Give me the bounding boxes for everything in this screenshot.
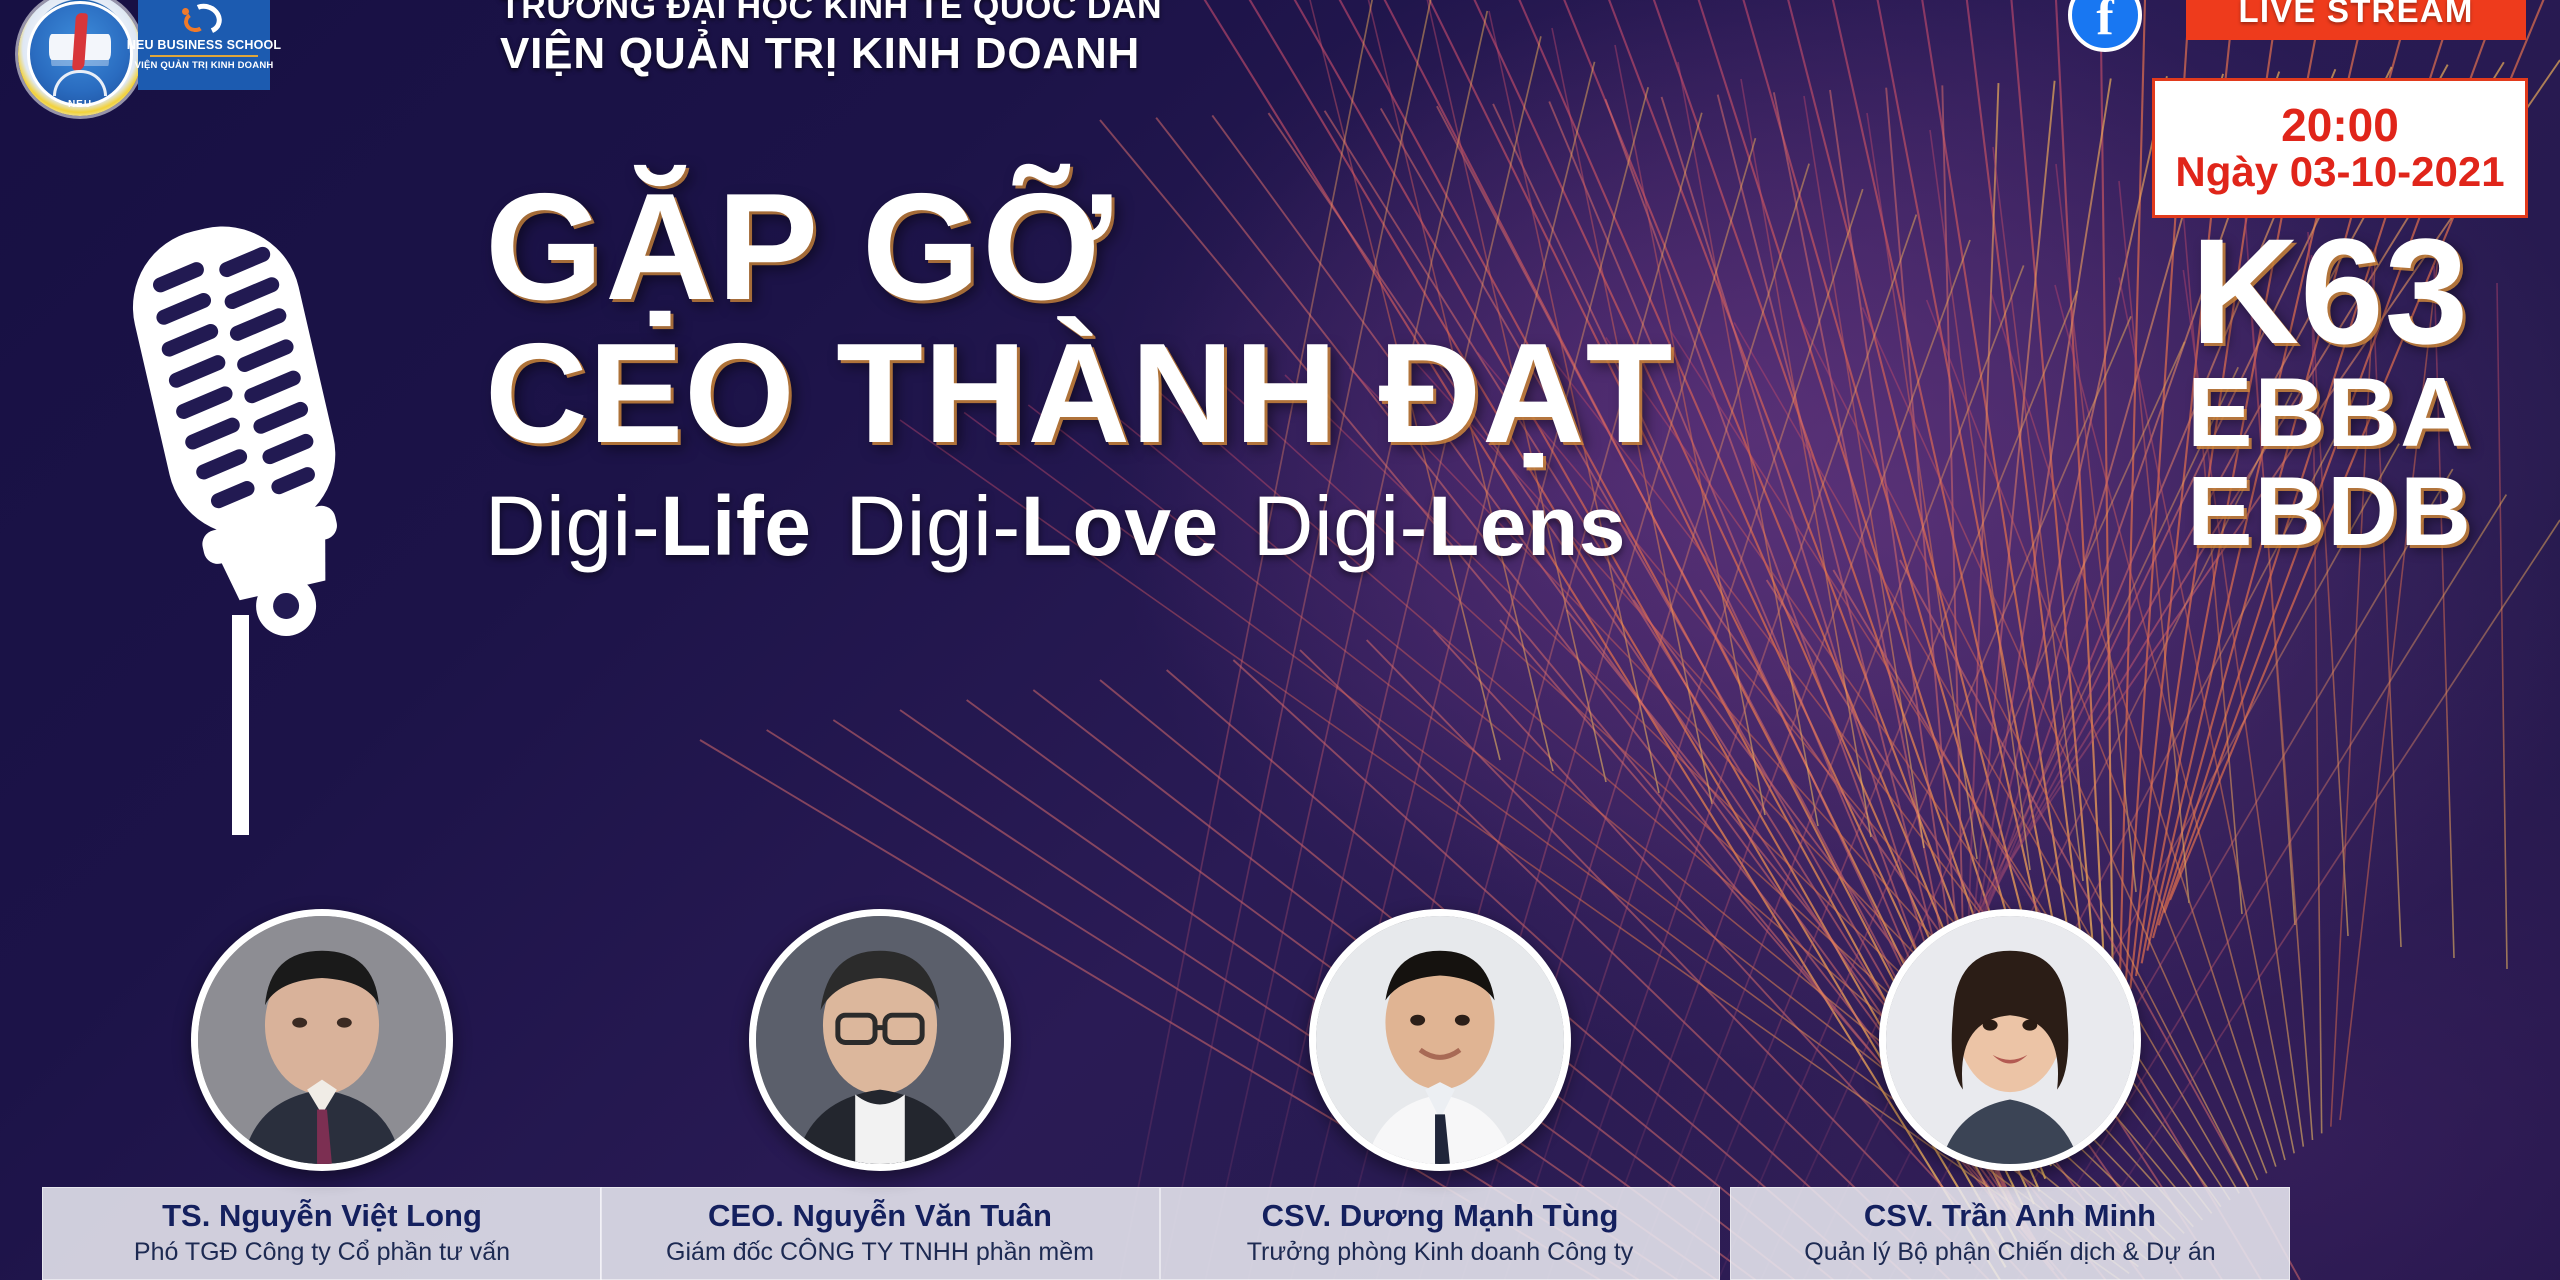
subtitle-bold-1: Life	[660, 479, 811, 573]
avatar	[191, 909, 453, 1171]
neu-business-school-logo: NEU BUSINESS SCHOOL VIỆN QUẢN TRỊ KINH D…	[138, 0, 270, 90]
speaker-card: CSV. Dương Mạnh Tùng Trưởng phòng Kinh d…	[1160, 909, 1720, 1280]
avatar	[1309, 909, 1571, 1171]
cohort-block: K63 EBBA EBDB	[2120, 220, 2540, 562]
speaker-role: Quản lý Bộ phận Chiến dịch & Dự án	[1739, 1237, 2281, 1267]
title-line-1: GẶP GỠ	[485, 170, 1673, 325]
university-heading: TRƯỜNG ĐẠI HỌC KINH TẾ QUỐC DÂN VIỆN QUẢ…	[500, 0, 1162, 79]
speaker-card: CEO. Nguyễn Văn Tuân Giám đốc CÔNG TY TN…	[600, 909, 1160, 1280]
university-name: TRƯỜNG ĐẠI HỌC KINH TẾ QUỐC DÂN	[500, 0, 1162, 27]
speaker-name-bar: CSV. Trần Anh Minh Quản lý Bộ phận Chiến…	[1730, 1187, 2290, 1280]
event-date: Ngày 03-10-2021	[2175, 149, 2504, 195]
main-title-block: GẶP GỠ CEO THÀNH ĐẠT Digi-LifeDigi-LoveD…	[485, 170, 1673, 573]
speaker-card: TS. Nguyễn Việt Long Phó TGĐ Công ty Cổ …	[42, 909, 602, 1280]
nbs-title: NEU BUSINESS SCHOOL	[127, 38, 282, 52]
subtitle-prefix-2: Digi-	[846, 479, 1021, 573]
subtitle-bold-2: Love	[1021, 479, 1219, 573]
seal-text: NEU	[68, 99, 92, 110]
speaker-name: CEO. Nguyễn Văn Tuân	[609, 1198, 1151, 1234]
swirl-icon	[182, 2, 226, 36]
microphone-icon	[92, 215, 392, 835]
speaker-name-bar: CSV. Dương Mạnh Tùng Trưởng phòng Kinh d…	[1160, 1187, 1720, 1280]
live-stream-badge: LIVE STREAM	[2186, 0, 2526, 40]
cohort-class-2: EBDB	[2120, 462, 2540, 562]
facebook-glyph: f	[2096, 0, 2113, 41]
speaker-role: Phó TGĐ Công ty Cổ phần tư vấn	[51, 1237, 593, 1267]
speakers-row: TS. Nguyễn Việt Long Phó TGĐ Công ty Cổ …	[0, 860, 2560, 1280]
subtitle-bold-3: Lens	[1428, 479, 1626, 573]
nbs-subtitle: VIỆN QUẢN TRỊ KINH DOANH	[135, 60, 274, 71]
title-subtitle: Digi-LifeDigi-LoveDigi-Lens	[485, 480, 1673, 572]
speaker-name-bar: TS. Nguyễn Việt Long Phó TGĐ Công ty Cổ …	[42, 1187, 602, 1280]
avatar	[749, 909, 1011, 1171]
subtitle-prefix-3: Digi-	[1253, 479, 1428, 573]
speaker-role: Giám đốc CÔNG TY TNHH phần mềm	[609, 1237, 1151, 1267]
event-datetime-box: 20:00 Ngày 03-10-2021	[2152, 78, 2528, 218]
speaker-role: Trưởng phòng Kinh doanh Công ty	[1169, 1237, 1711, 1267]
cohort-class-1: EBBA	[2120, 363, 2540, 463]
avatar	[1879, 909, 2141, 1171]
speaker-name: CSV. Trần Anh Minh	[1739, 1198, 2281, 1234]
speaker-name: TS. Nguyễn Việt Long	[51, 1198, 593, 1234]
speaker-card: CSV. Trần Anh Minh Quản lý Bộ phận Chiến…	[1730, 909, 2290, 1280]
institute-name: VIỆN QUẢN TRỊ KINH DOANH	[500, 29, 1162, 79]
cohort-code: K63	[2120, 220, 2540, 363]
subtitle-prefix-1: Digi-	[485, 479, 660, 573]
speaker-name-bar: CEO. Nguyễn Văn Tuân Giám đốc CÔNG TY TN…	[600, 1187, 1160, 1280]
event-time: 20:00	[2281, 101, 2399, 149]
event-poster: NEU NEU BUSINESS SCHOOL VIỆN QUẢN TRỊ KI…	[0, 0, 2560, 1280]
speaker-name: CSV. Dương Mạnh Tùng	[1169, 1198, 1711, 1234]
live-stream-label: LIVE STREAM	[2238, 0, 2473, 30]
title-line-2: CEO THÀNH ĐẠT	[485, 319, 1673, 468]
